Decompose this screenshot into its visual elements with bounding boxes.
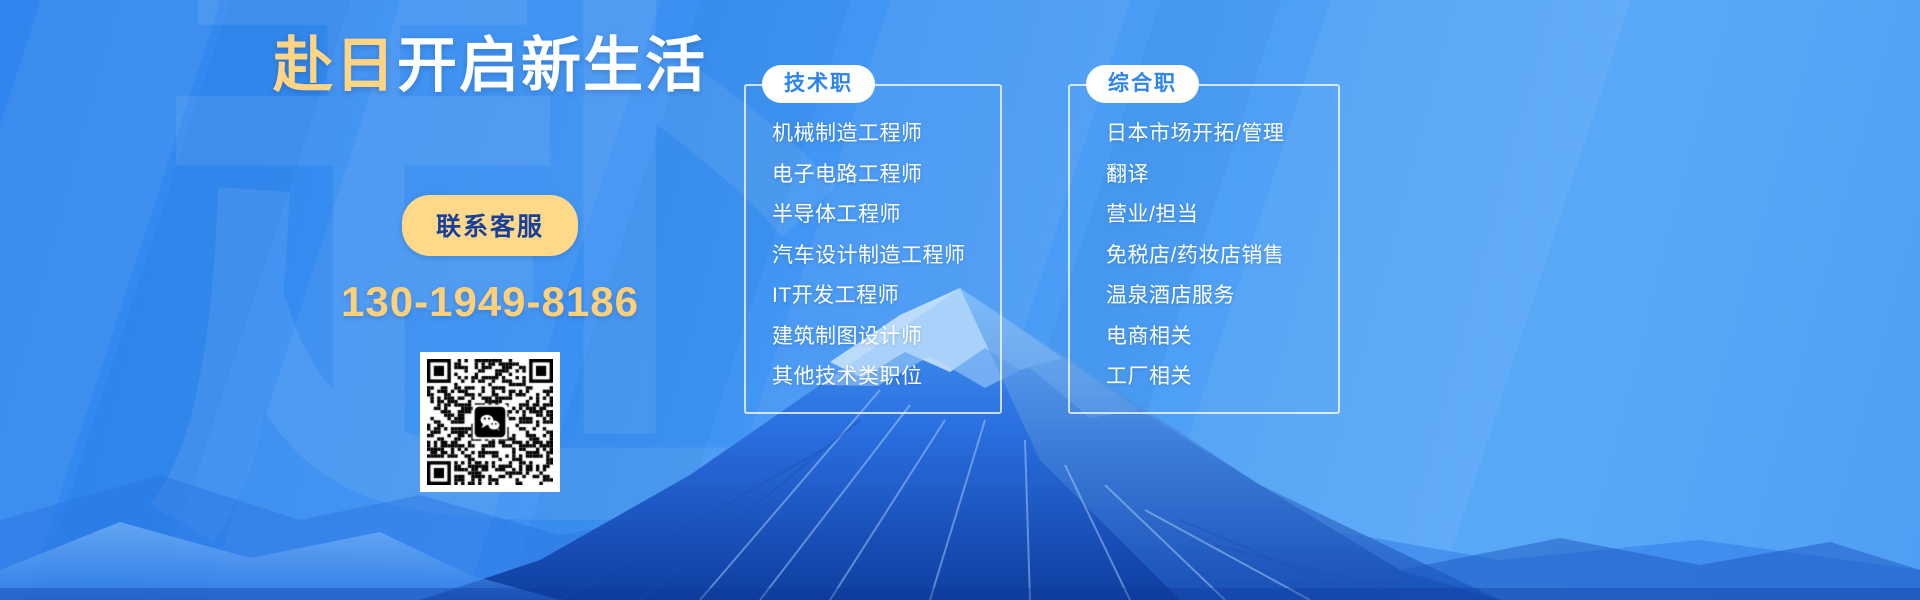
phone-number: 130-1949-8186 (190, 278, 790, 326)
list-item[interactable]: 其他技术类职位 (772, 357, 966, 398)
job-panel-technical: 技术职 机械制造工程师 电子电路工程师 半导体工程师 汽车设计制造工程师 IT开… (744, 84, 1002, 414)
panel-tag-technical: 技术职 (762, 65, 875, 103)
list-item[interactable]: IT开发工程师 (772, 276, 966, 317)
list-item[interactable]: 日本市场开拓/管理 (1106, 114, 1284, 155)
job-list-general: 日本市场开拓/管理 翻译 营业/担当 免税店/药妆店销售 温泉酒店服务 电商相关… (1106, 114, 1284, 398)
headline-plain-text: 开启新生活 (397, 32, 707, 99)
list-item[interactable]: 电子电路工程师 (772, 155, 966, 196)
left-content-column: 赴日开启新生活 联系客服 130-1949-8186 (190, 28, 790, 492)
list-item[interactable]: 翻译 (1106, 155, 1284, 196)
headline-accent-text: 赴日 (273, 32, 397, 99)
contact-support-button[interactable]: 联系客服 (402, 195, 578, 256)
list-item[interactable]: 电商相关 (1106, 317, 1284, 358)
list-item[interactable]: 机械制造工程师 (772, 114, 966, 155)
qr-code-image (427, 359, 553, 485)
wechat-qr-code[interactable] (420, 352, 560, 492)
list-item[interactable]: 半导体工程师 (772, 195, 966, 236)
page-title: 赴日开启新生活 (190, 28, 790, 103)
list-item[interactable]: 免税店/药妆店销售 (1106, 236, 1284, 277)
list-item[interactable]: 温泉酒店服务 (1106, 276, 1284, 317)
list-item[interactable]: 汽车设计制造工程师 (772, 236, 966, 277)
list-item[interactable]: 工厂相关 (1106, 357, 1284, 398)
promo-banner: 赴 (0, 0, 1920, 600)
job-panel-general: 综合职 日本市场开拓/管理 翻译 营业/担当 免税店/药妆店销售 温泉酒店服务 … (1068, 84, 1340, 414)
job-list-technical: 机械制造工程师 电子电路工程师 半导体工程师 汽车设计制造工程师 IT开发工程师… (772, 114, 966, 398)
list-item[interactable]: 建筑制图设计师 (772, 317, 966, 358)
list-item[interactable]: 营业/担当 (1106, 195, 1284, 236)
panel-tag-general: 综合职 (1086, 65, 1199, 103)
